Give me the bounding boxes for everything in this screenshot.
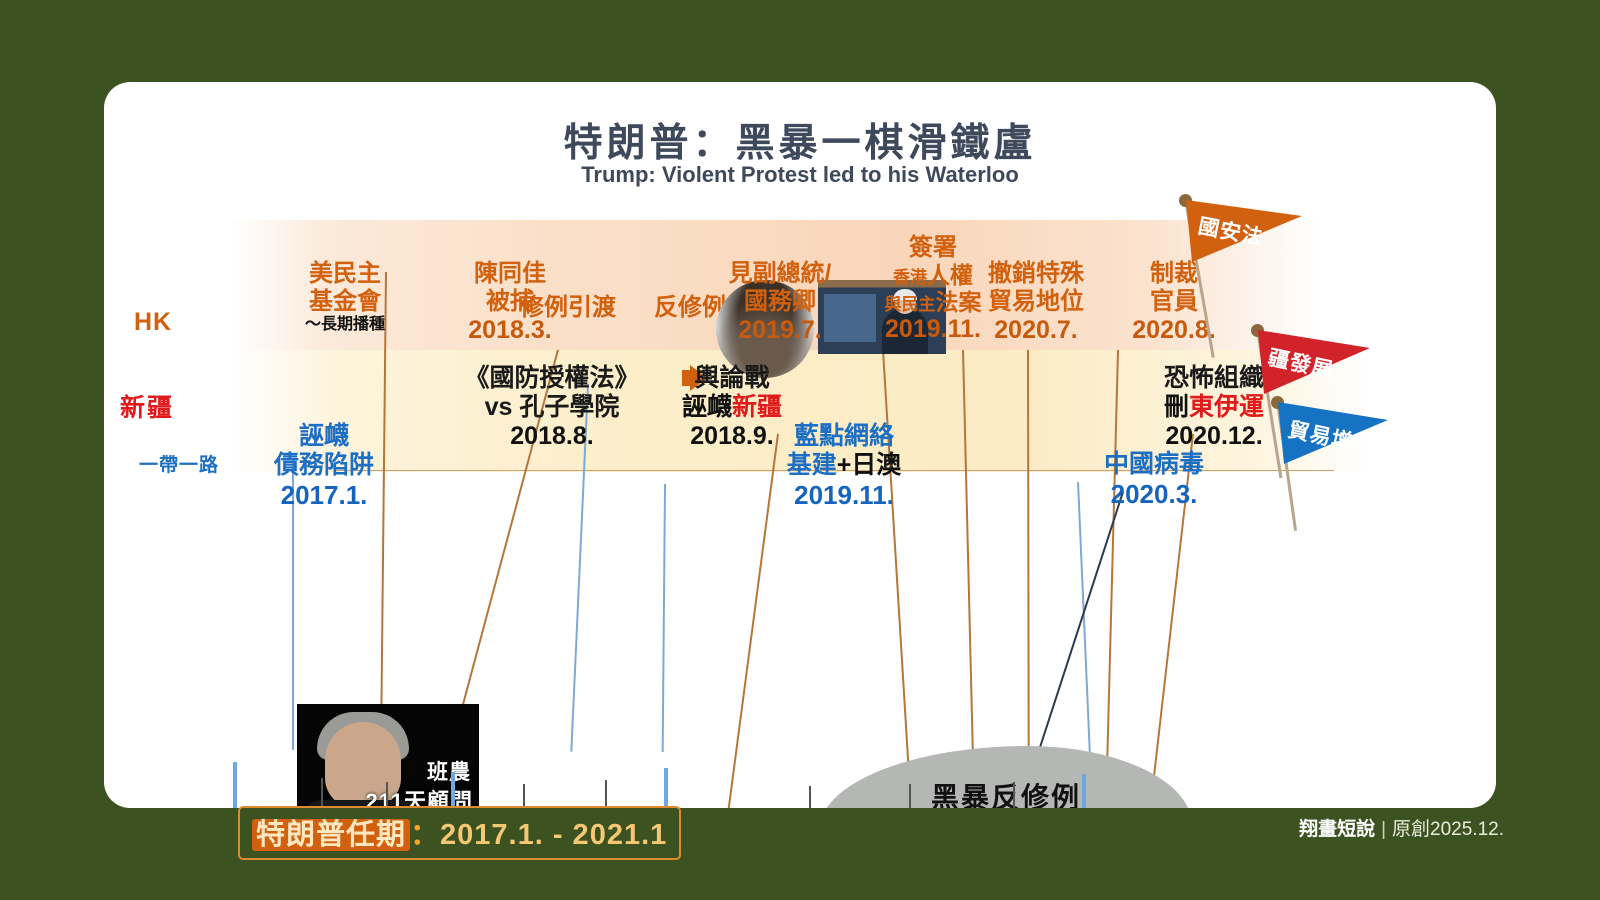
axis-tick	[809, 786, 811, 808]
photo-caption-detail: 211天顧問	[366, 784, 474, 808]
credit-line: 翔畫短說|原創2025.12.	[1299, 814, 1504, 841]
event-line-2: 基建+日澳	[754, 451, 934, 480]
event-line-2: 債務陷阱	[234, 451, 414, 480]
event-main-black: +日澳	[837, 451, 902, 479]
event-line-1: 藍點網絡	[754, 422, 934, 451]
event-main-blue: 基建	[787, 451, 837, 479]
axis-tick	[1013, 782, 1015, 808]
protest-period-label: 黑暴反修例	[820, 776, 1192, 808]
event-line-1: 美民主	[280, 260, 410, 288]
connector-line	[662, 484, 666, 752]
event-prefix-1: 香港	[893, 268, 927, 287]
axis-tick	[386, 782, 388, 808]
event-line-2: vs 孔子學院	[452, 393, 652, 422]
row-label-belt-road: 一帶一路	[104, 450, 254, 477]
axis-tick	[605, 780, 607, 808]
event-line-1: 誣衊	[234, 422, 414, 451]
event-line-1: 陳同佳	[450, 260, 570, 288]
content-card: 特朗普：黑暴一棋滑鐵盧 Trump: Violent Protest led t…	[104, 82, 1496, 808]
page-subtitle: Trump: Violent Protest led to his Waterl…	[104, 162, 1496, 188]
page-title: 特朗普：黑暴一棋滑鐵盧	[104, 112, 1496, 168]
term-colon: ：	[410, 819, 440, 851]
event-hk-revoke-trade-status: 撤銷特殊 貿易地位 2020.7.	[954, 260, 1118, 345]
infographic-root: 特朗普：黑暴一棋滑鐵盧 Trump: Violent Protest led t…	[0, 0, 1600, 900]
event-date: 2018.8.	[452, 422, 652, 451]
row-label-xinjiang: 新疆	[120, 388, 174, 424]
event-main-black: 刪	[1164, 393, 1189, 421]
event-note: ～長期播種	[280, 316, 410, 335]
photo-caption-name: 班農	[427, 756, 471, 786]
event-br-china-virus: 中國病毒 2020.3.	[1064, 450, 1244, 509]
credit-separator: |	[1381, 819, 1386, 840]
event-prefix-2: 與民主	[885, 295, 936, 314]
event-line-1: 中國病毒	[1064, 450, 1244, 479]
event-main-red: 東伊運	[1189, 393, 1264, 421]
axis-tick	[909, 784, 911, 808]
event-main-black: 誣衊	[682, 393, 732, 421]
event-br-debt-trap: 誣衊 債務陷阱 2017.1.	[234, 422, 414, 510]
event-hk-ned: 美民主 基金會 ～長期播種	[280, 260, 410, 334]
term-banner: 特朗普任期：2017.1. - 2021.1	[238, 806, 681, 860]
term-label: 特朗普任期	[252, 819, 410, 851]
event-line-2: 貿易地位	[954, 288, 1118, 316]
axis-tick-blue	[1082, 774, 1086, 808]
credit-origin: 原創2025.12.	[1392, 819, 1504, 840]
event-line-2: 官員	[1104, 288, 1244, 316]
axis-tick-blue	[664, 768, 668, 808]
axis-tick-blue	[233, 762, 237, 808]
connector-line	[1077, 482, 1090, 752]
row-label-hk: HK	[134, 308, 172, 337]
event-xj-ndaa: 《國防授權法》 vs 孔子學院 2018.8.	[452, 364, 652, 451]
event-date: 2019.11.	[754, 480, 934, 510]
axis-tick-blue	[451, 772, 455, 808]
event-line-2: 基金會	[280, 288, 410, 316]
event-line-top: 簽署	[840, 234, 1026, 262]
term-dates: 2017.1. - 2021.1	[440, 819, 667, 851]
axis-tick	[321, 778, 323, 808]
axis-tick	[523, 784, 525, 808]
event-date: 2017.1.	[234, 480, 414, 510]
credit-brand: 翔畫短說	[1299, 819, 1375, 840]
event-date: 2020.8.	[1104, 316, 1244, 345]
event-line-1: 《國防授權法》	[452, 364, 652, 393]
event-date: 2020.3.	[1064, 479, 1244, 509]
event-line-1: 撤銷特殊	[954, 260, 1118, 288]
event-br-blue-dot-network: 藍點網絡 基建+日澳 2019.11.	[754, 422, 934, 510]
event-main-red: 新疆	[732, 393, 782, 421]
event-date: 2020.7.	[954, 316, 1118, 345]
event-line-1: 輿論戰	[652, 364, 812, 393]
event-line-2: 誣衊新疆	[652, 393, 812, 422]
